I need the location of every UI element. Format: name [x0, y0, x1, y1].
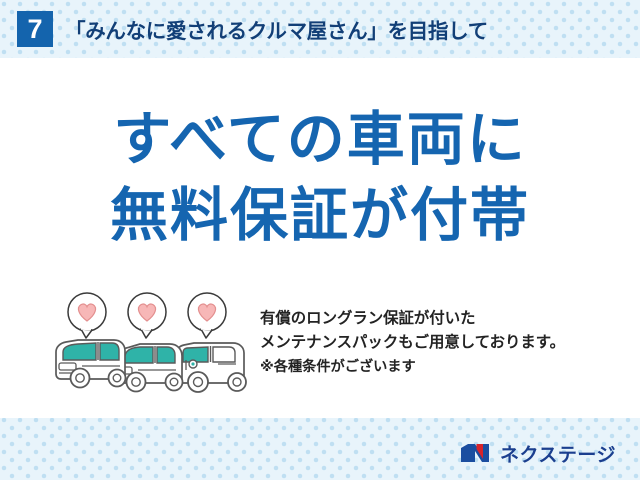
banner-header: 7 「みんなに愛されるクルマ屋さん」を目指して [0, 0, 640, 58]
step-number-badge: 7 [17, 11, 53, 47]
info-row: 有償のロングラン保証が付いた メンテナンスパックもご用意しております。 ※各種条… [0, 290, 640, 408]
car-van-left [56, 340, 126, 388]
headline-line-1: すべての車両に [0, 102, 640, 178]
description-note: ※各種条件がございます [260, 355, 565, 379]
headline-line-2: 無料保証が付帯 [0, 178, 640, 254]
nexstage-n-logo-icon [459, 441, 493, 465]
headline: すべての車両に 無料保証が付帯 [0, 102, 640, 254]
speech-bubble-heart-2 [128, 293, 166, 338]
car-suv-right [176, 343, 246, 392]
description-text: 有償のロングラン保証が付いた メンテナンスパックもご用意しております。 ※各種条… [260, 307, 565, 379]
cars-illustration [48, 290, 252, 402]
content-panel: すべての車両に 無料保証が付帯 [0, 58, 640, 418]
promo-banner: 7 「みんなに愛されるクルマ屋さん」を目指して すべての車両に 無料保証が付帯 [0, 0, 640, 480]
speech-bubble-heart-3 [188, 293, 226, 338]
speech-bubble-heart-1 [68, 293, 106, 338]
brand-logo: ネクステージ [459, 436, 616, 470]
description-line-1: 有償のロングラン保証が付いた [260, 307, 565, 331]
description-line-2: メンテナンスパックもご用意しております。 [260, 331, 565, 355]
header-title: 「みんなに愛されるクルマ屋さん」を目指して [65, 14, 488, 44]
brand-name: ネクステージ [500, 440, 616, 467]
